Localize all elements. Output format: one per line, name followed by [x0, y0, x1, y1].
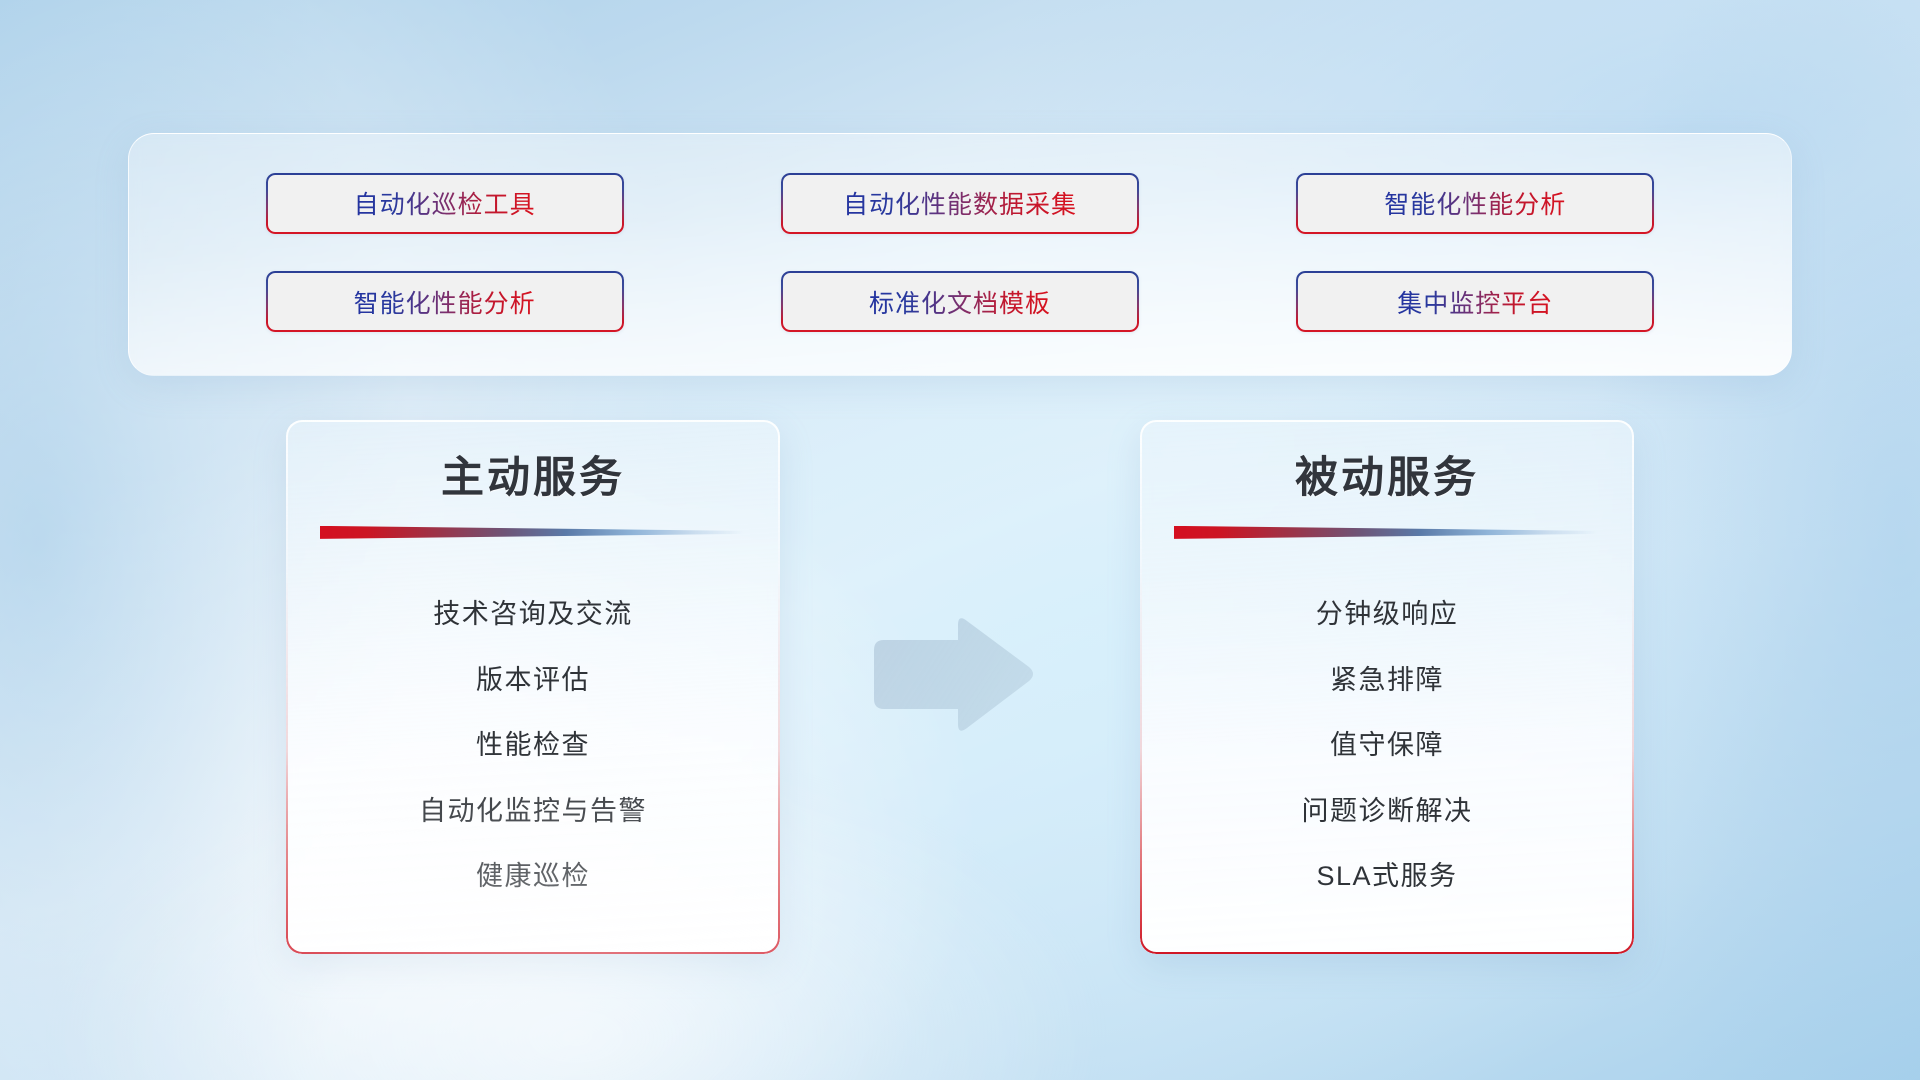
capability-panel: 自动化巡检工具 自动化性能数据采集 智能化性能分析 智能化性能分析 标准化文档模… — [128, 133, 1792, 376]
capability-pill[interactable]: 标准化文档模板 — [781, 271, 1139, 332]
list-item: 问题诊断解决 — [1170, 795, 1604, 827]
divider-wedge — [1174, 526, 1598, 539]
capability-pill-label: 自动化巡检工具 — [354, 185, 536, 221]
slide-canvas: 自动化巡检工具 自动化性能数据采集 智能化性能分析 智能化性能分析 标准化文档模… — [0, 0, 1920, 1080]
card-title: 被动服务 — [1170, 454, 1604, 504]
list-item: 性能检查 — [316, 729, 750, 761]
list-item: 技术咨询及交流 — [316, 598, 750, 630]
list-item: 分钟级响应 — [1170, 598, 1604, 630]
divider-wedge — [320, 526, 744, 539]
service-card-reactive: 被动服务 分钟级响应 紧急排障 值守保障 问题诊断解决 SLA式服务 — [1140, 420, 1634, 954]
list-item: 版本评估 — [316, 664, 750, 696]
capability-pill-label: 自动化性能数据采集 — [843, 185, 1077, 221]
arrow-right-icon — [866, 612, 1036, 737]
capability-pill-label: 智能化性能分析 — [1384, 185, 1566, 221]
service-item-list: 技术咨询及交流 版本评估 性能检查 自动化监控与告警 健康巡检 — [316, 565, 750, 936]
capability-pill[interactable]: 智能化性能分析 — [266, 271, 624, 332]
list-item: 值守保障 — [1170, 729, 1604, 761]
capability-pill-label: 智能化性能分析 — [354, 284, 536, 320]
capability-pill-label: 标准化文档模板 — [869, 284, 1051, 320]
list-item: SLA式服务 — [1170, 860, 1604, 892]
capability-pill-label: 集中监控平台 — [1397, 284, 1553, 320]
list-item: 自动化监控与告警 — [316, 795, 750, 827]
capability-pill[interactable]: 智能化性能分析 — [1296, 173, 1654, 234]
card-divider — [1174, 526, 1598, 539]
capability-pill[interactable]: 自动化性能数据采集 — [781, 173, 1139, 234]
service-item-list: 分钟级响应 紧急排障 值守保障 问题诊断解决 SLA式服务 — [1170, 565, 1604, 936]
card-title: 主动服务 — [316, 454, 750, 504]
capability-pill[interactable]: 集中监控平台 — [1296, 271, 1654, 332]
list-item: 紧急排障 — [1170, 664, 1604, 696]
list-item: 健康巡检 — [316, 860, 750, 892]
card-divider — [320, 526, 744, 539]
capability-pill[interactable]: 自动化巡检工具 — [266, 173, 624, 234]
service-card-proactive: 主动服务 技术咨询及交流 版本评估 性能检查 自动化监控与告警 健康巡检 — [286, 420, 780, 954]
